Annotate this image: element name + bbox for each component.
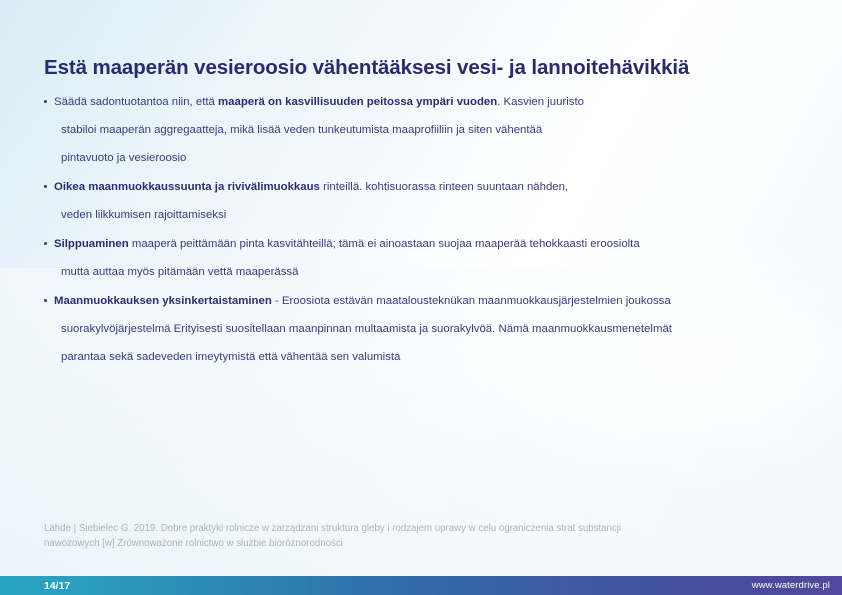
bullet-dot-icon bbox=[44, 185, 47, 188]
bullet-text: mutta auttaa myös pitämään vettä maaperä… bbox=[61, 266, 298, 278]
bullet-item: Silppuaminen maaperä peittämään pinta ka… bbox=[44, 230, 822, 286]
slide: Estä maaperän vesieroosio vähentääksesi … bbox=[0, 0, 842, 595]
bullet-dot-icon bbox=[44, 100, 47, 103]
bullet-text: maaperä peittämään pinta kasvitähteillä;… bbox=[129, 238, 640, 250]
bullet-text: . Kasvien juuristo bbox=[497, 96, 584, 108]
bullet-line-first: Säädä sadontuotantoa niin, että maaperä … bbox=[44, 88, 822, 116]
footer-bar: 14/17 www.waterdrive.pl bbox=[0, 576, 842, 595]
bullet-line-continuation: veden liikkumisen rajoittamiseksi bbox=[44, 201, 822, 229]
site-url-link[interactable]: www.waterdrive.pl bbox=[752, 580, 830, 591]
bullet-line-continuation: pintavuoto ja vesieroosio bbox=[44, 144, 822, 172]
bullet-dot-icon bbox=[44, 242, 47, 245]
bullet-text: pintavuoto ja vesieroosio bbox=[61, 152, 186, 164]
source-citation: Lähde | Siebielec G. 2019. Dobre praktyk… bbox=[44, 521, 804, 551]
bullet-list: Säädä sadontuotantoa niin, että maaperä … bbox=[44, 88, 822, 372]
bullet-text: veden liikkumisen rajoittamiseksi bbox=[61, 209, 226, 221]
page-number: 14/17 bbox=[44, 580, 70, 592]
bullet-item: Oikea maanmuokkaussuunta ja rivivälimuok… bbox=[44, 173, 822, 229]
bullet-line-continuation: parantaa sekä sadeveden imeytymistä että… bbox=[44, 343, 822, 371]
page-title: Estä maaperän vesieroosio vähentääksesi … bbox=[44, 56, 804, 81]
bullet-text: stabiloi maaperän aggregaatteja, mikä li… bbox=[61, 124, 542, 136]
bullet-line-first: Oikea maanmuokkaussuunta ja rivivälimuok… bbox=[44, 173, 822, 201]
source-line: nawozowych [w] Zrównoważone rolnictwo w … bbox=[44, 536, 804, 551]
bullet-line-first: Silppuaminen maaperä peittämään pinta ka… bbox=[44, 230, 822, 258]
bullet-text: parantaa sekä sadeveden imeytymistä että… bbox=[61, 351, 400, 363]
bullet-line-continuation: mutta auttaa myös pitämään vettä maaperä… bbox=[44, 258, 822, 286]
bullet-text-emphasis: maaperä on kasvillisuuden peitossa ympär… bbox=[218, 96, 497, 108]
bullet-line-first: Maanmuokkauksen yksinkertaistaminen - Er… bbox=[44, 287, 822, 315]
bullet-text: suorakylvöjärjestelmä Erityisesti suosit… bbox=[61, 323, 672, 335]
bullet-text: - Eroosiota estävän maatalousteknükan ma… bbox=[272, 295, 671, 307]
bullet-text: Säädä sadontuotantoa niin, että bbox=[54, 96, 218, 108]
bullet-item: Säädä sadontuotantoa niin, että maaperä … bbox=[44, 88, 822, 172]
bullet-dot-icon bbox=[44, 299, 47, 302]
bullet-text: rinteillä. kohtisuorassa rinteen suuntaa… bbox=[320, 181, 568, 193]
bullet-text-emphasis: Silppuaminen bbox=[54, 238, 129, 250]
bullet-text-emphasis: Maanmuokkauksen yksinkertaistaminen bbox=[54, 295, 272, 307]
bullet-item: Maanmuokkauksen yksinkertaistaminen - Er… bbox=[44, 287, 822, 371]
bullet-line-continuation: stabiloi maaperän aggregaatteja, mikä li… bbox=[44, 116, 822, 144]
source-line: Lähde | Siebielec G. 2019. Dobre praktyk… bbox=[44, 521, 804, 536]
bullet-text-emphasis: Oikea maanmuokkaussuunta ja rivivälimuok… bbox=[54, 181, 320, 193]
bullet-line-continuation: suorakylvöjärjestelmä Erityisesti suosit… bbox=[44, 315, 822, 343]
